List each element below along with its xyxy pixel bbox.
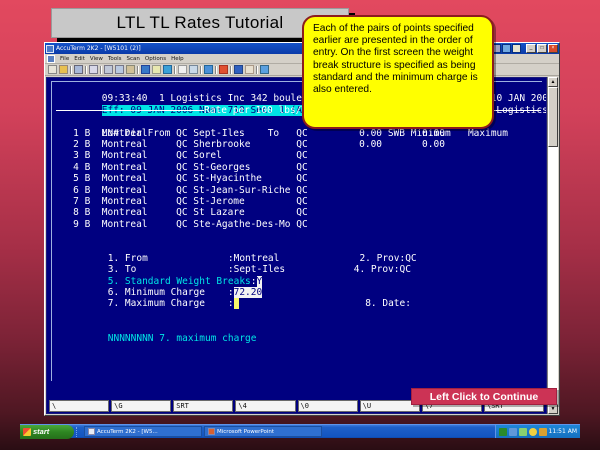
- close-button[interactable]: ×: [548, 44, 558, 53]
- row-right-fields: [308, 173, 445, 184]
- ftp-toolbar-icon[interactable]: [219, 65, 228, 74]
- callout-text: Each of the pairs of points specified ea…: [313, 23, 478, 95]
- save-icon[interactable]: [74, 65, 83, 74]
- sp: [451, 128, 468, 139]
- table-row[interactable]: 6 B Montreal QC St-Jean-Sur-Riche QC: [53, 185, 541, 196]
- office-tray-icon[interactable]: [539, 428, 547, 436]
- copy-icon[interactable]: [115, 65, 124, 74]
- value-to: Sept-Iles: [234, 264, 285, 275]
- taskbar-item-powerpoint[interactable]: Microsoft PowerPoint: [204, 426, 322, 437]
- function-key-5[interactable]: \0: [298, 400, 358, 412]
- table-row[interactable]: 7 B Montreal QC St-Jerome QC: [53, 196, 541, 207]
- blank-icon[interactable]: [512, 44, 521, 53]
- row-right-fields: [308, 162, 445, 173]
- new-icon[interactable]: [48, 65, 57, 74]
- taskbar-item-accuterm[interactable]: AccuTerm 2K2 - [W5...: [84, 426, 202, 437]
- page-icon[interactable]: [178, 65, 187, 74]
- header-time: 09:33:40: [102, 93, 148, 104]
- toolbar-separator: [256, 66, 258, 74]
- row-left-fields: 7 B Montreal QC St-Jerome QC: [56, 196, 308, 207]
- window-controls[interactable]: _ □ ×: [526, 44, 558, 53]
- value-standard-weight-breaks[interactable]: Y: [257, 276, 263, 287]
- scroll-thumb[interactable]: [548, 87, 558, 147]
- sp: :: [148, 253, 234, 264]
- print-preview-icon[interactable]: [89, 65, 98, 74]
- table-body: 1 B Montreal QC Sept-Iles QC 0.00 0.00 2…: [53, 128, 541, 231]
- about-icon[interactable]: [260, 65, 269, 74]
- terminal-prompt-line: NNNNNNNN 7. maximum charge: [53, 321, 541, 332]
- maximize-button[interactable]: □: [537, 44, 547, 53]
- label-date: 8. Date:: [365, 298, 411, 309]
- scroll-track[interactable]: [548, 87, 558, 404]
- network-tray-icon[interactable]: [499, 428, 507, 436]
- header-date: 10 JAN 2006: [491, 93, 547, 104]
- rule-left: [56, 110, 204, 111]
- row-right-fields: [308, 150, 445, 161]
- terminal-icon: [46, 45, 54, 53]
- toolbar-separator: [100, 66, 102, 74]
- connect-toolbar-icon[interactable]: [141, 65, 150, 74]
- sp: [285, 264, 354, 275]
- cut-icon[interactable]: [104, 65, 113, 74]
- powerpoint-icon: [208, 428, 215, 435]
- menu-tools[interactable]: Tools: [108, 56, 122, 62]
- label-from-prov: 2. Prov:QC: [359, 253, 416, 264]
- sp: :: [251, 276, 257, 287]
- menu-scan[interactable]: Scan: [127, 56, 140, 62]
- row-right-fields: [308, 185, 445, 196]
- row-left-fields: 6 B Montreal QC St-Jean-Sur-Riche QC: [56, 185, 308, 196]
- terminal-scrollbar[interactable]: ▲ ▼: [547, 77, 558, 414]
- row-right-fields: [308, 207, 445, 218]
- cursor-icon[interactable]: [152, 65, 161, 74]
- start-label: start: [33, 427, 49, 436]
- toolbar-separator: [200, 66, 202, 74]
- continue-label: Left Click to Continue: [430, 391, 539, 403]
- table-row[interactable]: 9 B Montreal QC Ste-Agathe-Des-Mo QC: [53, 219, 541, 230]
- row-left-fields: 2 B Montreal QC Sherbrooke QC: [56, 139, 308, 150]
- col-maximum: Maximum: [468, 128, 508, 139]
- form-row-from[interactable]: 1. From :Montreal 2. Prov:QC: [53, 241, 541, 252]
- menu-view[interactable]: View: [90, 56, 103, 62]
- clock[interactable]: 11:51 AM: [549, 428, 577, 435]
- open-folder-icon[interactable]: [59, 65, 68, 74]
- left-click-to-continue-button[interactable]: Left Click to Continue: [411, 388, 557, 405]
- menu-edit[interactable]: Edit: [74, 56, 85, 62]
- function-key-3[interactable]: SRT: [173, 400, 233, 412]
- row-left-fields: 4 B Montreal QC St-Georges QC: [56, 162, 308, 173]
- page-title: LTL TL Rates Tutorial: [117, 13, 284, 33]
- quick-launch-handle[interactable]: [76, 427, 80, 437]
- row-right-fields: 0.00 0.00: [308, 139, 445, 150]
- function-key-1[interactable]: \: [49, 400, 109, 412]
- table-row[interactable]: 5 B Montreal QC St-Hyacinthe QC: [53, 173, 541, 184]
- puzzle-tray-icon[interactable]: [519, 428, 527, 436]
- windows-taskbar[interactable]: start AccuTerm 2K2 - [W5... Microsoft Po…: [20, 424, 580, 438]
- paste-icon[interactable]: [126, 65, 135, 74]
- row-left-fields: 1 B Montreal QC Sept-Iles QC: [56, 128, 308, 139]
- row-left-fields: 8 B Montreal QC St Lazare QC: [56, 207, 308, 218]
- value-from: Montreal: [234, 253, 280, 264]
- row-left-fields: 9 B Montreal QC Ste-Agathe-Des-Mo QC: [56, 219, 308, 230]
- toolbar-separator: [70, 66, 72, 74]
- kermit-icon[interactable]: [245, 65, 254, 74]
- label-maximum-charge: 7. Maximum Charge: [108, 298, 205, 309]
- terminal-icon: [88, 428, 95, 435]
- table-row[interactable]: 8 B Montreal QC St Lazare QC: [53, 207, 541, 218]
- label-to-prov: 4. Prov:QC: [354, 264, 411, 275]
- sp: :: [205, 287, 234, 298]
- table-row[interactable]: 2 B Montreal QC Sherbrooke QC 0.00 0.00: [53, 139, 541, 150]
- sp: :: [136, 264, 233, 275]
- network-icon[interactable]: [204, 65, 213, 74]
- menu-help[interactable]: Help: [171, 56, 184, 62]
- table-row[interactable]: 4 B Montreal QC St-Georges QC: [53, 162, 541, 173]
- taskbar-item-label: Microsoft PowerPoint: [217, 429, 274, 435]
- row-right-fields: 0.00 0.00: [308, 128, 445, 139]
- menu-file[interactable]: File: [60, 56, 69, 62]
- sp: [279, 253, 359, 264]
- label-from: 1. From: [108, 253, 148, 264]
- prompt-text: NNNNNNNN 7. maximum charge: [108, 333, 257, 344]
- row-right-fields: [308, 219, 445, 230]
- tutorial-callout: Each of the pairs of points specified ea…: [302, 15, 494, 129]
- row-right-fields: [308, 196, 445, 207]
- label-minimum-charge: 6. Minimum Charge: [108, 287, 205, 298]
- toolbar-separator: [85, 66, 87, 74]
- modem-tray-icon[interactable]: [509, 428, 517, 436]
- minimize-button[interactable]: _: [526, 44, 536, 53]
- taskbar-item-label: AccuTerm 2K2 - [W5...: [97, 429, 158, 435]
- function-key-4[interactable]: \4: [235, 400, 295, 412]
- label-standard-weight-breaks: 5. Standard Weight Breaks: [108, 276, 251, 287]
- toolbar-separator: [137, 66, 139, 74]
- system-tray[interactable]: 11:51 AM: [495, 425, 580, 438]
- form-spacer3: [53, 310, 541, 321]
- grid-icon[interactable]: [189, 65, 198, 74]
- menu-options[interactable]: Options: [145, 56, 166, 62]
- value-minimum-charge[interactable]: 72.20: [234, 287, 263, 298]
- toolbar-separator: [215, 66, 217, 74]
- label-to: 3. To: [108, 264, 137, 275]
- monitor-icon[interactable]: [234, 65, 243, 74]
- windows-logo-icon: [23, 428, 31, 436]
- toolbar-separator: [174, 66, 176, 74]
- lightbulb-tray-icon[interactable]: [529, 428, 537, 436]
- function-key-2[interactable]: \G: [111, 400, 171, 412]
- start-button[interactable]: start: [20, 425, 74, 439]
- capture-toolbar-icon[interactable]: [163, 65, 172, 74]
- scroll-up-arrow[interactable]: ▲: [548, 77, 558, 87]
- sp: [239, 298, 365, 309]
- form-spacer: [53, 230, 541, 241]
- document-icon: [47, 55, 55, 63]
- row-left-fields: 3 B Montreal QC Sorel QC: [56, 150, 308, 161]
- sp: :: [205, 298, 234, 309]
- window-title: AccuTerm 2K2 - [W5101 (2)]: [56, 45, 141, 52]
- screen-frame-left: [51, 81, 52, 381]
- sp: [148, 93, 159, 104]
- scroll-down-arrow[interactable]: ▼: [548, 404, 558, 414]
- row-left-fields: 5 B Montreal QC St-Hyacinthe QC: [56, 173, 308, 184]
- toolbar-separator: [230, 66, 232, 74]
- help-icon[interactable]: [502, 44, 511, 53]
- table-row[interactable]: 3 B Montreal QC Sorel QC: [53, 150, 541, 161]
